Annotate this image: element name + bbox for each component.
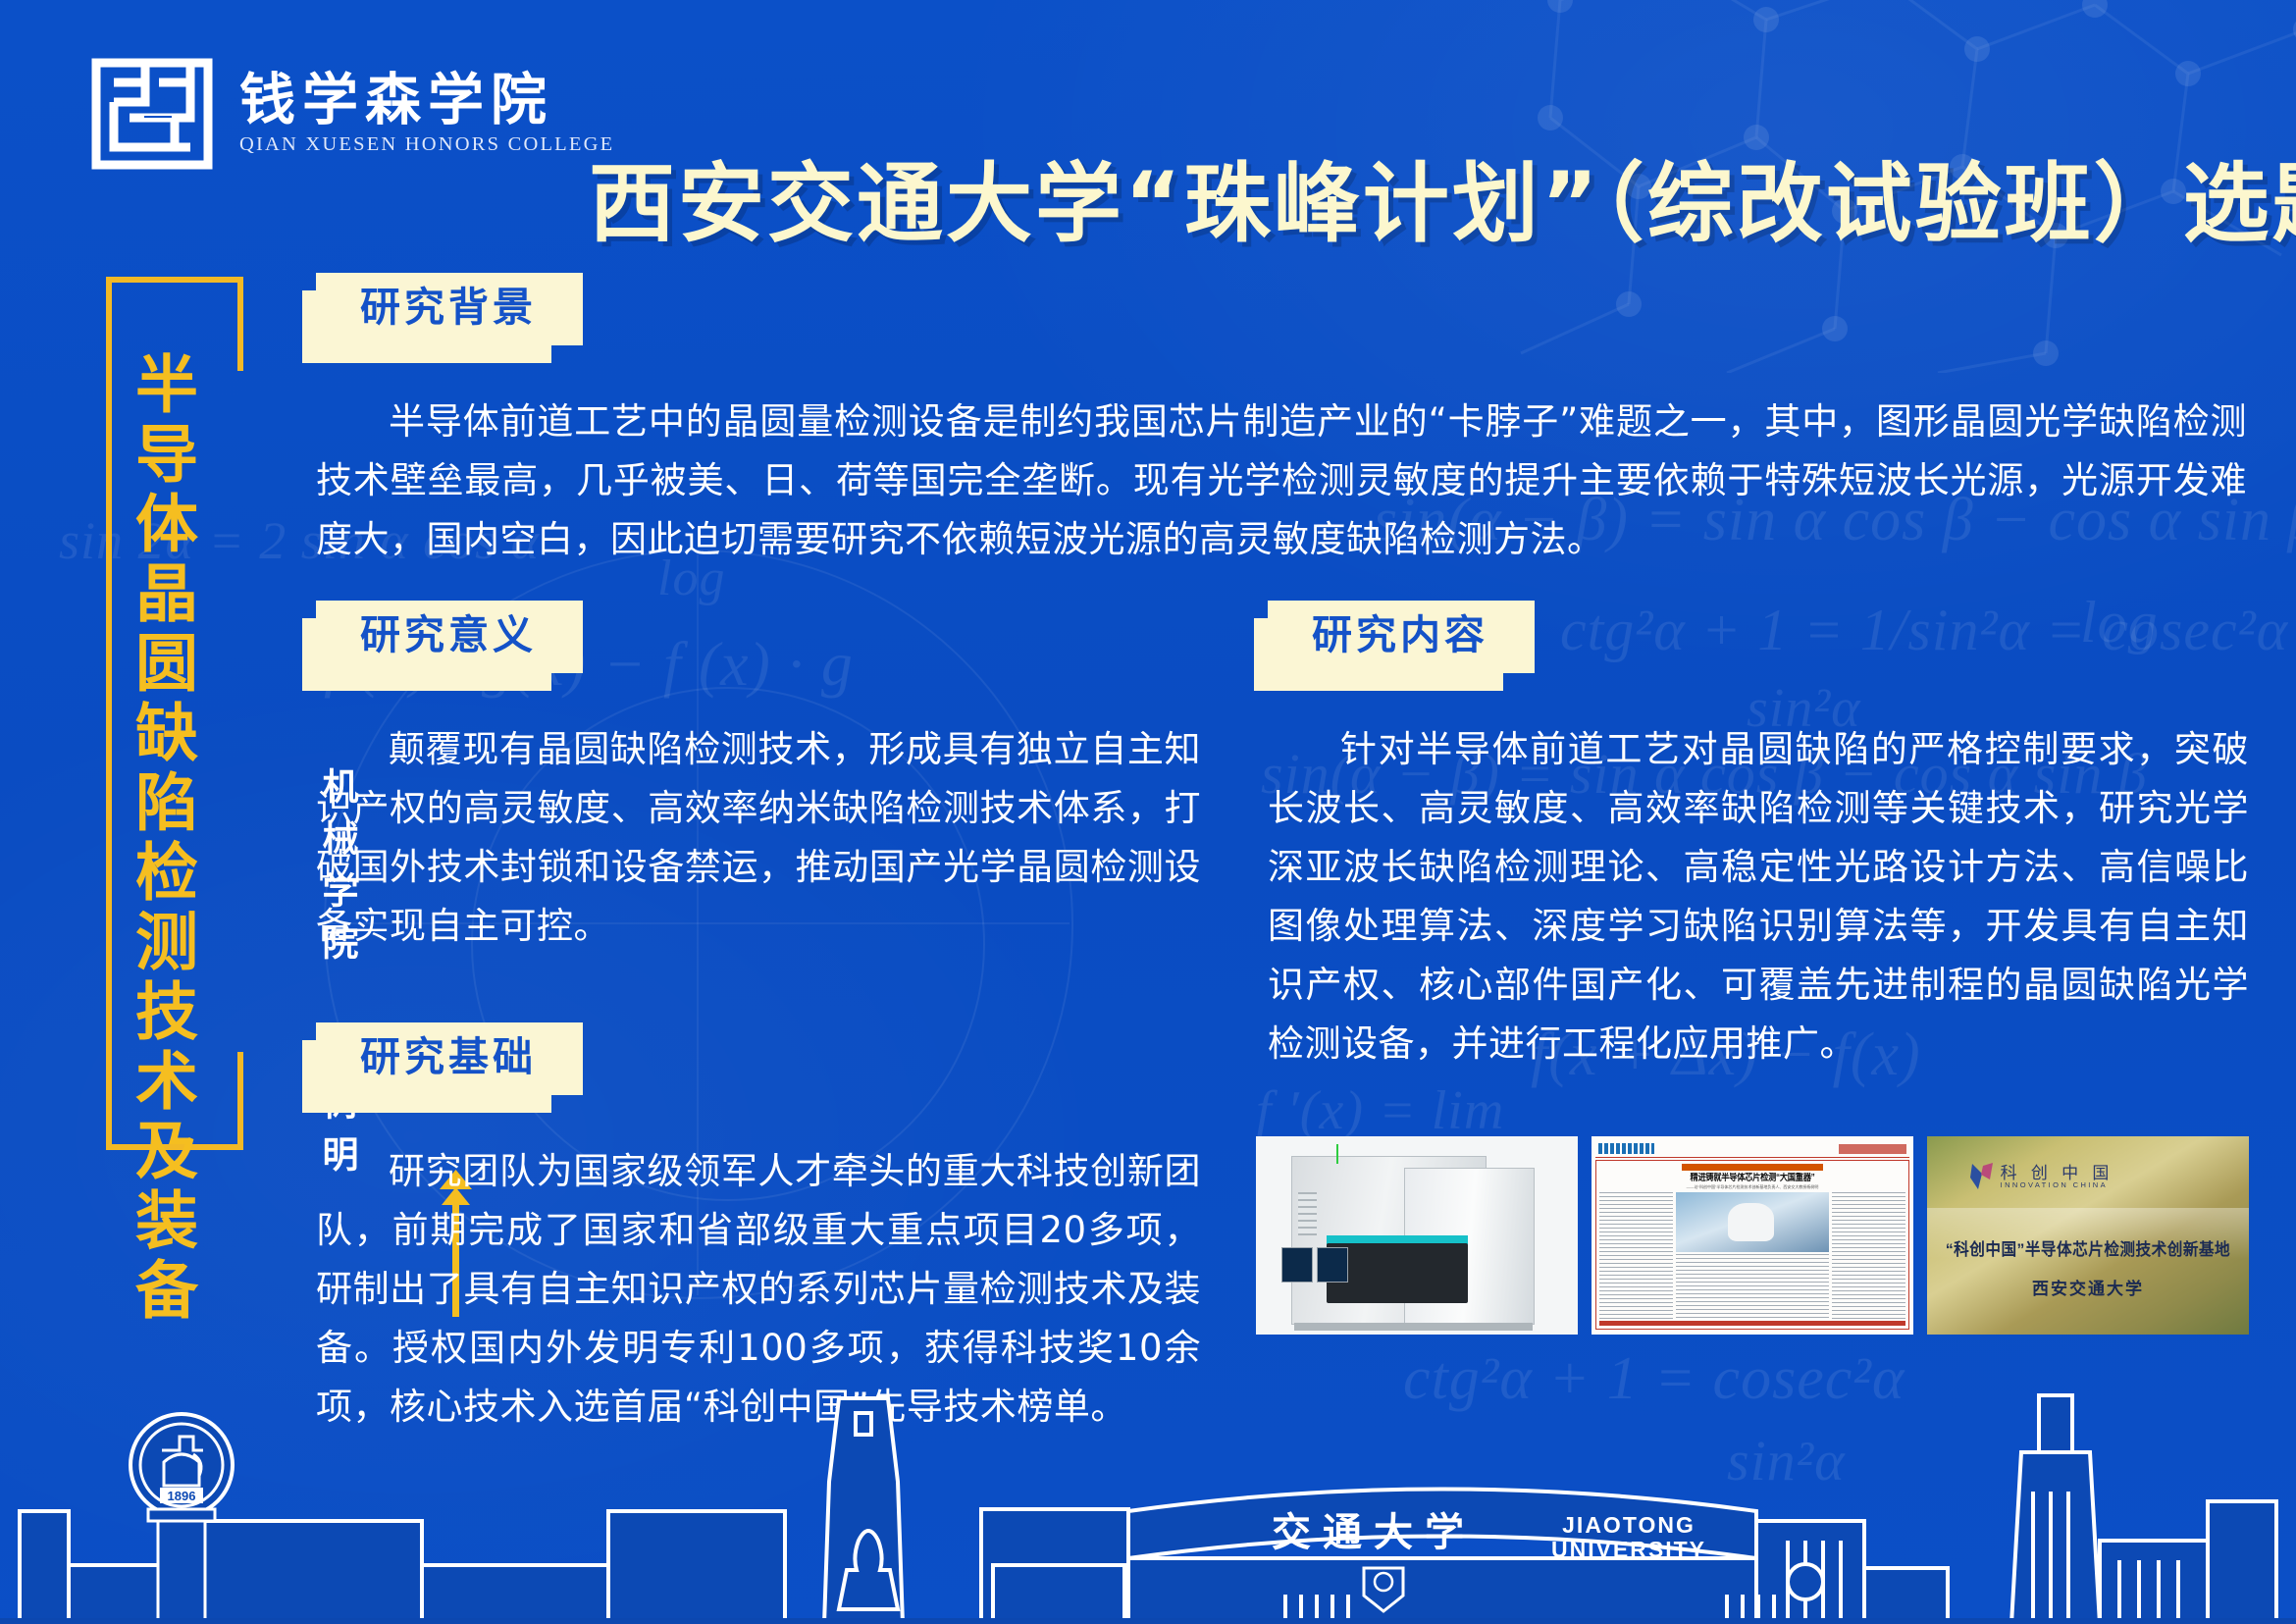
plaque-line-1: “科创中国”半导体芯片检测技术创新基地 [1946,1235,2230,1260]
poster-header: 钱学森学院 QIAN XUESEN HONORS COLLEGE 西安交通大学“… [0,0,2296,211]
section-body-text: 研究团队为国家级领军人才牵头的重大科技创新团队，前期完成了国家和省部级重大重点项… [316,1142,1201,1437]
newspaper-clipping: 精进铸就半导体芯片检测“大国重器” ——访“科创中国”半导体芯片检测技术创新基地… [1592,1136,1913,1335]
inspection-equipment-photo [1256,1136,1578,1335]
section-content: 研究内容 针对半导体前道工艺对晶圆缺陷的严格控制要求，突破长波长、高灵敏度、高效… [1268,601,2249,1110]
gate-name-en-2: UNIVERSITY [1551,1537,1706,1562]
college-name-cn: 钱学森学院 [239,72,614,131]
emblem-year: 1896 [168,1489,196,1503]
image-gallery: 精进铸就半导体芯片检测“大国重器” ——访“科创中国”半导体芯片检测技术创新基地… [1256,1136,2249,1335]
college-name-en: QIAN XUESEN HONORS COLLEGE [239,133,614,156]
newspaper-illustration: 精进铸就半导体芯片检测“大国重器” ——访“科创中国”半导体芯片检测技术创新基地… [1592,1136,1913,1335]
section-body-text: 针对半导体前道工艺对晶圆缺陷的严格控制要求，突破长波长、高灵敏度、高效率缺陷检测… [1268,720,2249,1074]
college-logo-text: 钱学森学院 QIAN XUESEN HONORS COLLEGE [239,72,614,157]
gate-name-en-1: JIAOTONG [1562,1512,1696,1538]
section-heading-label: 研究基础 [360,1033,537,1080]
section-heading-chip: 研究意义 [316,601,583,673]
plaque-line-2: 西安交通大学 [2032,1275,2144,1299]
section-heading-label: 研究内容 [1312,611,1488,658]
section-body-text: 颠覆现有晶圆缺陷检测技术，形成具有独立自主知识产权的高灵敏度、高效率纳米缺陷检测… [316,720,1201,956]
innovation-base-plaque: 科 创 中 国 INNOVATION CHINA “科创中国”半导体芯片检测技术… [1927,1136,2249,1335]
footer-baseline [0,1618,2296,1624]
section-heading-label: 研究背景 [360,284,537,331]
campus-skyline-icon: 1896 交通大学 JIAOTONG UNIVERSITY [0,1393,2296,1624]
project-title: 半导体晶圆缺陷检测技术及装备 [130,351,192,1327]
newspaper-headline: 精进铸就半导体芯片检测“大国重器” [1627,1173,1878,1183]
section-significance: 研究意义 颠覆现有晶圆缺陷检测技术，形成具有独立自主知识产权的高灵敏度、高效率纳… [316,601,1201,992]
section-heading-chip: 研究基础 [316,1022,583,1095]
plaque-illustration: 科 创 中 国 INNOVATION CHINA “科创中国”半导体芯片检测技术… [1927,1136,2249,1335]
innovation-china-logo: 科 创 中 国 INNOVATION CHINA [1969,1162,2114,1191]
section-heading-chip: 研究内容 [1268,601,1535,673]
section-body-text: 半导体前道工艺中的晶圆量检测设备是制约我国芯片制造产业的“卡脖子”难题之一，其中… [316,393,2247,569]
seal-square-icon [90,57,214,171]
college-logo: 钱学森学院 QIAN XUESEN HONORS COLLEGE [90,57,614,171]
innovation-china-mark-icon [1969,1162,1995,1191]
page-title: 西安交通大学“珠峰计划”（综改试验班）选题 [589,134,2237,259]
newspaper-subhead: ——访“科创中国”半导体芯片检测技术创新基地负责人、西安交大教授杨树明 [1599,1184,1905,1190]
equipment-illustration [1256,1136,1578,1335]
section-heading-chip: 研究背景 [316,273,583,345]
gate-name-cn: 交通大学 [1272,1510,1476,1554]
plaque-brand-en: INNOVATION CHINA [2001,1181,2114,1189]
poster-root: sin 2α = 2 sin α cos α sin(α − β) = sin … [0,0,2296,1624]
plaque-brand-cn: 科 创 中 国 [2001,1165,2114,1181]
section-heading-label: 研究意义 [360,611,537,658]
project-title-band: 半导体晶圆缺陷检测技术及装备 机械学院 杨树明 [106,277,292,1150]
section-background: 研究背景 半导体前道工艺中的晶圆量检测设备是制约我国芯片制造产业的“卡脖子”难题… [316,273,2247,605]
